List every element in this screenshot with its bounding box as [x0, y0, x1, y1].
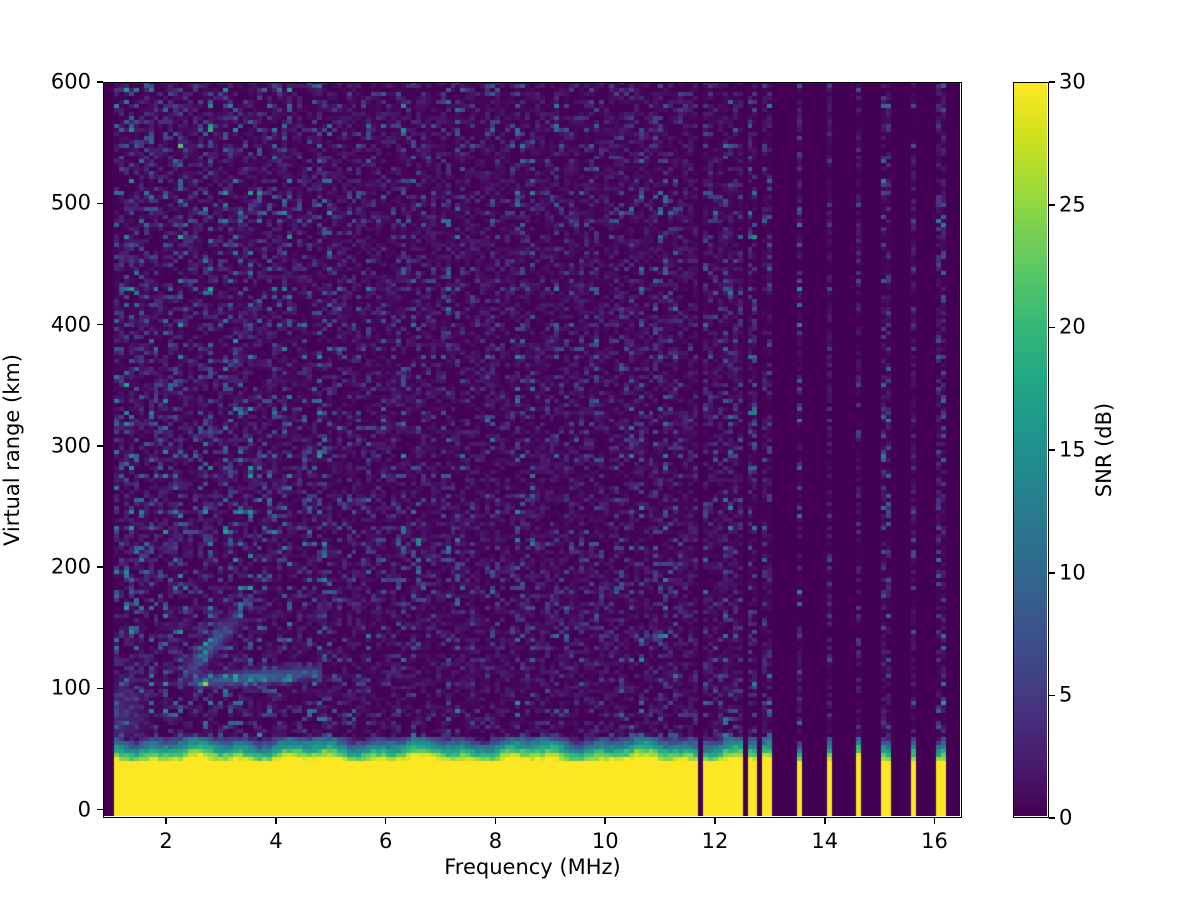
colorbar-tick-mark: [1049, 695, 1055, 697]
ionogram-axes[interactable]: [103, 82, 962, 818]
x-tick-label: 16: [895, 831, 975, 852]
colorbar-tick-mark: [1049, 817, 1055, 819]
colorbar-tick-label: 5: [1059, 685, 1072, 706]
x-tick-label: 2: [126, 831, 206, 852]
figure-canvas: IRF Kiruna Ionosonde KI167 2025-06-09 03…: [0, 0, 1200, 900]
x-tick-mark: [934, 818, 936, 824]
y-axis-label: Virtual range (km): [0, 300, 24, 600]
snr-colorbar[interactable]: [1013, 82, 1049, 818]
y-tick-label: 500: [7, 193, 91, 214]
y-tick-label: 0: [7, 799, 91, 820]
x-tick-mark: [385, 818, 387, 824]
x-axis-label: Frequency (MHz): [103, 855, 962, 879]
colorbar-tick-label: 10: [1059, 562, 1086, 583]
colorbar-gradient: [1014, 83, 1047, 816]
x-tick-label: 6: [346, 831, 426, 852]
x-tick-label: 8: [455, 831, 535, 852]
ionogram-heatmap: [104, 83, 960, 816]
x-tick-mark: [495, 818, 497, 824]
x-tick-mark: [824, 818, 826, 824]
x-tick-label: 4: [236, 831, 316, 852]
x-tick-mark: [604, 818, 606, 824]
colorbar-tick-mark: [1049, 204, 1055, 206]
x-tick-label: 10: [565, 831, 645, 852]
x-tick-label: 14: [785, 831, 865, 852]
colorbar-tick-mark: [1049, 81, 1055, 83]
colorbar-tick-label: 30: [1059, 72, 1086, 93]
x-tick-mark: [714, 818, 716, 824]
colorbar-label: SNR (dB): [1092, 300, 1116, 600]
colorbar-tick-mark: [1049, 327, 1055, 329]
x-tick-mark: [275, 818, 277, 824]
colorbar-tick-label: 25: [1059, 194, 1086, 215]
colorbar-tick-label: 15: [1059, 440, 1086, 461]
colorbar-tick-label: 0: [1059, 808, 1072, 829]
y-tick-label: 600: [7, 72, 91, 93]
colorbar-tick-mark: [1049, 449, 1055, 451]
x-tick-label: 12: [675, 831, 755, 852]
colorbar-tick-mark: [1049, 572, 1055, 574]
y-tick-label: 100: [7, 678, 91, 699]
colorbar-tick-label: 20: [1059, 317, 1086, 338]
x-tick-mark: [165, 818, 167, 824]
